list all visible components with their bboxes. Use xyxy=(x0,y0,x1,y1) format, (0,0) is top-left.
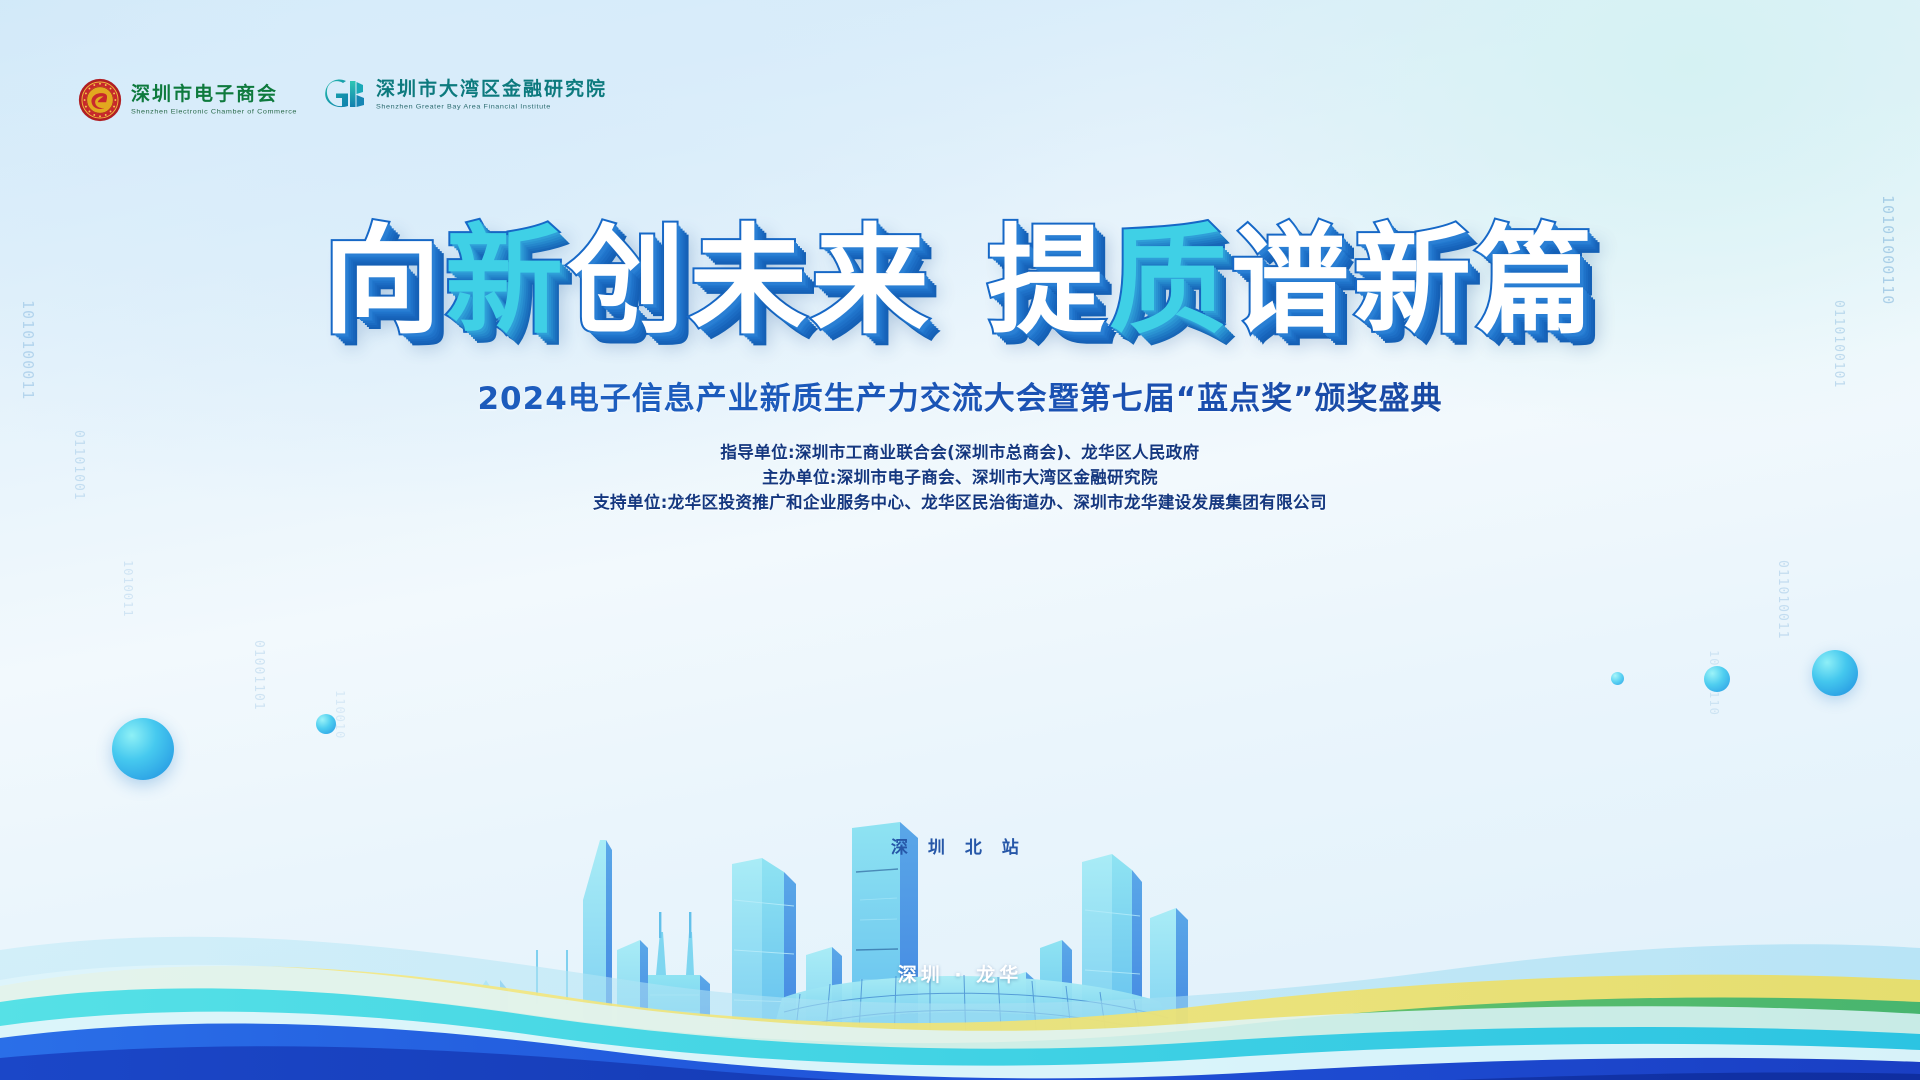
chamber-name-cn: 深圳市电子商会 xyxy=(131,84,297,105)
chamber-logo-texts: 深圳市电子商会 Shenzhen Electronic Chamber of C… xyxy=(131,84,297,116)
gba-logo-texts: 深圳市大湾区金融研究院 Shenzhen Greater Bay Area Fi… xyxy=(376,79,607,111)
title-char-10: 篇 xyxy=(1475,222,1597,340)
event-subtitle: 2024电子信息产业新质生产力交流大会暨第七届“蓝点奖”颁奖盛典 xyxy=(0,373,1920,418)
logo-bar: 深圳市电子商会 Shenzhen Electronic Chamber of C… xyxy=(78,78,607,122)
chamber-name-en: Shenzhen Electronic Chamber of Commerce xyxy=(131,107,297,116)
organizer-line-guidance: 指导单位:深圳市工商业联合会(深圳市总商会)、龙华区人民政府 xyxy=(0,440,1920,465)
title-char-7: 质 xyxy=(1109,222,1231,340)
title-char-2: 新 xyxy=(445,222,567,340)
logo-shenzhen-electronic-chamber: 深圳市电子商会 Shenzhen Electronic Chamber of C… xyxy=(78,78,297,122)
organizer-line-support: 支持单位:龙华区投资推广和企业服务中心、龙华区民治街道办、深圳市龙华建设发展集团… xyxy=(0,490,1920,515)
chamber-seal-icon xyxy=(78,78,122,122)
title-char-1: 向 xyxy=(323,222,445,340)
banner-canvas: 1010100011 01101001 1010011 01001101 110… xyxy=(0,0,1920,1080)
station-label: 深 圳 北 站 xyxy=(891,833,1026,858)
title-line-1: 向新创未来 xyxy=(323,222,933,340)
title-char-4: 未 xyxy=(689,222,811,340)
main-title: 向新创未来 提质谱新篇 xyxy=(0,222,1920,340)
title-char-6: 提 xyxy=(987,222,1109,340)
gba-name-en: Shenzhen Greater Bay Area Financial Inst… xyxy=(376,102,607,111)
city-scene xyxy=(0,650,1920,1080)
title-char-3: 创 xyxy=(567,222,689,340)
title-char-5: 来 xyxy=(811,222,933,340)
organizer-line-host: 主办单位:深圳市电子商会、深圳市大湾区金融研究院 xyxy=(0,465,1920,490)
logo-gba-financial-institute: 深圳市大湾区金融研究院 Shenzhen Greater Bay Area Fi… xyxy=(325,78,607,112)
title-char-8: 谱 xyxy=(1231,222,1353,340)
title-line-2: 提质谱新篇 xyxy=(987,222,1597,340)
place-label: 深圳 · 龙华 xyxy=(0,960,1920,987)
binary-decor-left-3: 1010011 xyxy=(118,560,138,618)
organizer-block: 指导单位:深圳市工商业联合会(深圳市总商会)、龙华区人民政府 主办单位:深圳市电… xyxy=(0,440,1920,515)
gba-monogram-icon xyxy=(325,78,367,112)
gba-name-cn: 深圳市大湾区金融研究院 xyxy=(376,79,607,100)
binary-decor-right-3: 011010011 xyxy=(1772,560,1792,639)
title-char-9: 新 xyxy=(1353,222,1475,340)
